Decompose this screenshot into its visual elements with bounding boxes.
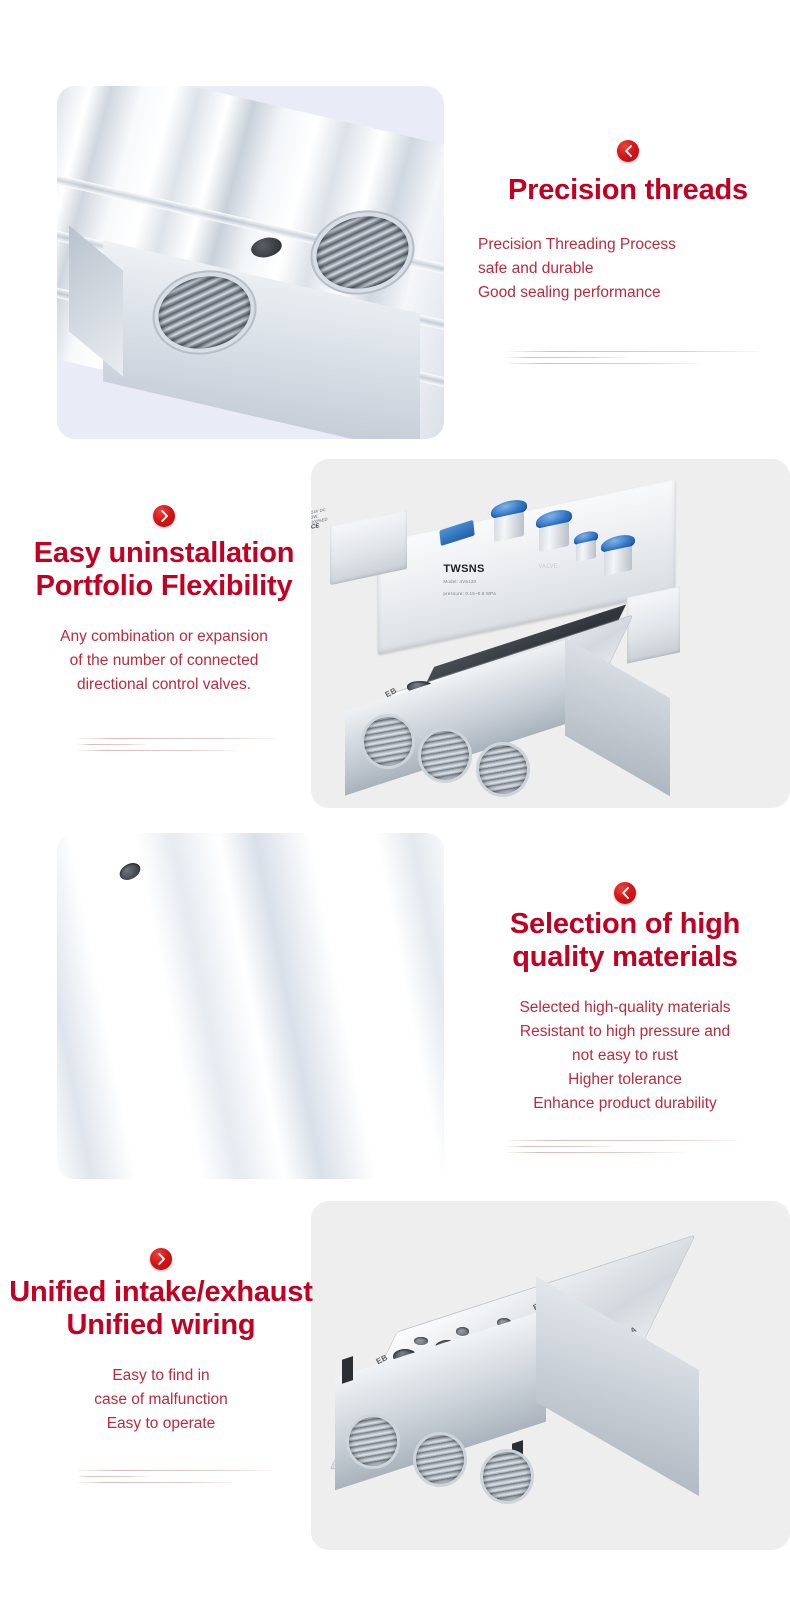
heading-line: Selection of high (470, 908, 780, 941)
body-line: Any combination or expansion (14, 625, 314, 649)
body-line: Good sealing performance (478, 281, 778, 305)
threaded-port (483, 1452, 531, 1501)
precision-threads-text-block: Precision threads Precision Threading Pr… (478, 140, 778, 305)
unified-intake-exhaust-heading: Unified intake/exhaust Unified wiring (8, 1276, 314, 1342)
end-plate (627, 586, 680, 663)
threaded-port (416, 1435, 464, 1484)
high-quality-materials-text-block: Selection of high quality materials Sele… (470, 882, 780, 1116)
push-fitting (491, 497, 527, 543)
product-feature-page: Precision threads Precision Threading Pr… (0, 0, 790, 1622)
body-line: Precision Threading Process (478, 233, 778, 257)
easy-uninstallation-heading: Easy uninstallation Portfolio Flexibilit… (14, 537, 314, 603)
precision-threads-image-card (57, 86, 444, 439)
unified-intake-exhaust-image-card: EB P EA EB P EA (311, 1201, 790, 1550)
high-quality-materials-body: Selected high-quality materials Resistan… (470, 996, 780, 1116)
body-line: of the number of connected (14, 649, 314, 673)
pressure-label: pressure: 0.15~0.8 MPa (443, 591, 496, 596)
heading-line: Unified wiring (8, 1309, 314, 1342)
model-label: Model: 4V5120 (443, 579, 476, 584)
precision-threads-body: Precision Threading Process safe and dur… (478, 233, 778, 305)
threaded-port (479, 745, 527, 794)
body-line: directional control valves. (14, 673, 314, 697)
chevron-left-icon[interactable] (617, 140, 639, 162)
easy-uninstallation-text-block: Easy uninstallation Portfolio Flexibilit… (14, 505, 314, 697)
heading-line: quality materials (470, 941, 780, 974)
high-quality-materials-image-card (57, 833, 444, 1179)
heading-line: Unified intake/exhaust (8, 1276, 314, 1309)
body-line: Resistant to high pressure and (470, 1020, 780, 1044)
unified-intake-exhaust-text-block: Unified intake/exhaust Unified wiring Ea… (8, 1248, 314, 1436)
precision-threads-heading: Precision threads (478, 174, 778, 207)
solenoid-valve-manifold-image: TWSNS Model: 4V5120 pressure: 0.15~0.8 M… (311, 459, 790, 808)
chevron-left-icon[interactable] (614, 882, 636, 904)
brand-label: TWSNS (443, 563, 484, 575)
unified-intake-exhaust-body: Easy to find in case of malfunction Easy… (8, 1364, 314, 1436)
threaded-port (364, 717, 412, 766)
easy-uninstallation-body: Any combination or expansion of the numb… (14, 625, 314, 697)
heading-line: Easy uninstallation (14, 537, 314, 570)
aluminum-block-closeup-image (57, 86, 444, 439)
chevron-right-icon[interactable] (150, 1248, 172, 1270)
easy-uninstallation-image-card: TWSNS Model: 4V5120 pressure: 0.15~0.8 M… (311, 459, 790, 808)
high-quality-materials-divider-rules (508, 1140, 738, 1158)
mounting-hole (117, 860, 144, 884)
chevron-right-icon[interactable] (153, 505, 175, 527)
push-fitting (536, 508, 572, 554)
body-line: Higher tolerance (470, 1068, 780, 1092)
unified-intake-exhaust-divider-rules (78, 1470, 283, 1488)
body-line: Easy to find in (8, 1364, 314, 1388)
high-quality-materials-heading: Selection of high quality materials (470, 908, 780, 974)
valve-word-label: VALVE (538, 564, 557, 570)
base-side-face (565, 638, 670, 797)
heading-line: Portfolio Flexibility (14, 570, 314, 603)
body-line: not easy to rust (470, 1044, 780, 1068)
precision-threads-divider-rules (508, 351, 758, 369)
body-line: Easy to operate (8, 1412, 314, 1436)
body-line: Selected high-quality materials (470, 996, 780, 1020)
body-line: safe and durable (478, 257, 778, 281)
manifold-base-block-image: EB P EA EB P EA (311, 1201, 790, 1550)
body-line: Enhance product durability (470, 1092, 780, 1116)
wiring-slot (342, 1356, 353, 1384)
easy-uninstallation-divider-rules (78, 738, 288, 756)
push-fitting (601, 532, 635, 576)
body-line: case of malfunction (8, 1388, 314, 1412)
push-fitting-small (574, 530, 598, 563)
threaded-port (421, 731, 469, 780)
